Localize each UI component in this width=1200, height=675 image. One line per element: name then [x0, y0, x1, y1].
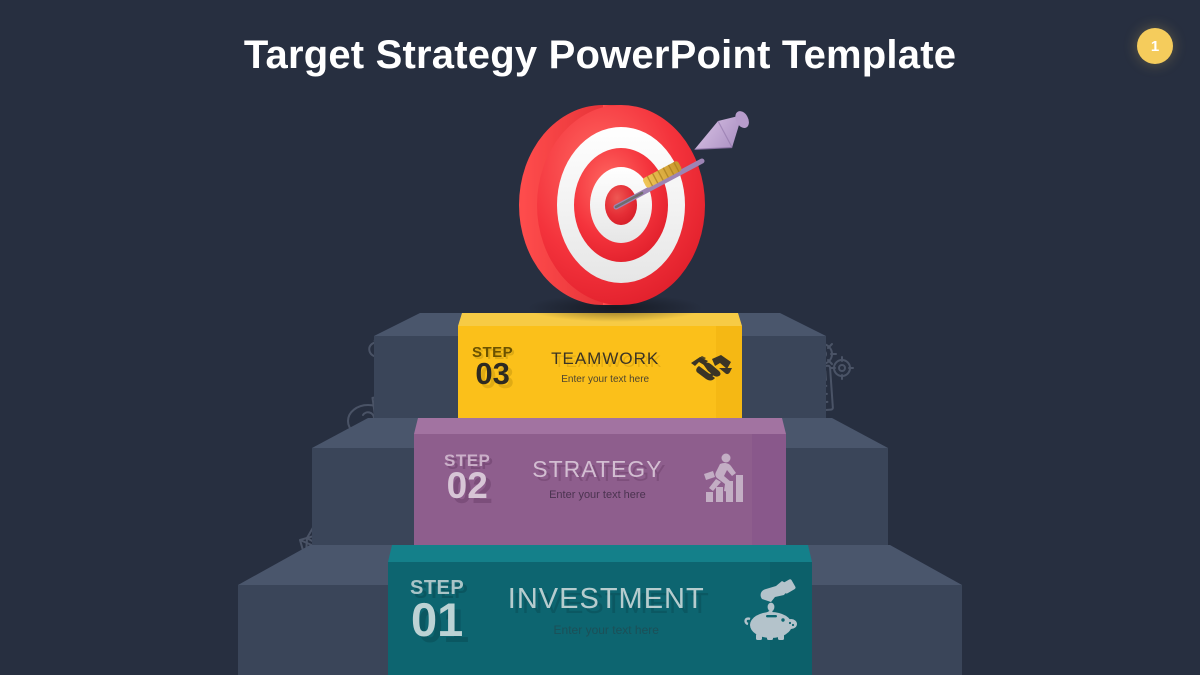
step-03-number: 03	[475, 360, 509, 389]
running-businessman-bar-chart-icon	[698, 452, 750, 504]
step-02-content[interactable]: STEP 02 STRATEGY Enter your text here	[444, 443, 754, 513]
step-01-number: 01	[411, 598, 463, 641]
step-01-text-block: INVESTMENT Enter your text here	[498, 583, 714, 637]
step-03-content[interactable]: STEP 03 TEAMWORK Enter your text here	[472, 336, 740, 398]
step-01-subtitle[interactable]: Enter your text here	[554, 623, 659, 637]
step-02-text-block: STRATEGY Enter your text here	[514, 456, 680, 501]
step-03-number-block: STEP 03	[472, 346, 513, 388]
slide-number-badge: 1	[1137, 28, 1173, 64]
step-02-subtitle[interactable]: Enter your text here	[549, 489, 646, 501]
step-01-title: INVESTMENT	[508, 583, 705, 616]
presentation-slide: 23	[0, 0, 1200, 675]
step-03-subtitle[interactable]: Enter your text here	[561, 374, 649, 385]
step-03-title: TEAMWORK	[551, 349, 659, 369]
dartboard-target-with-dart	[470, 95, 790, 325]
step-01-content[interactable]: STEP 01 INVESTMENT Enter your text here	[410, 568, 810, 652]
page-title: Target Strategy PowerPoint Template	[0, 33, 1200, 78]
step-02-number-block: STEP 02	[444, 453, 490, 503]
handshake-icon	[689, 350, 733, 384]
piggy-bank-coin-icon	[740, 579, 804, 641]
step-03-text-block: TEAMWORK Enter your text here	[535, 349, 675, 385]
step-02-number: 02	[447, 469, 488, 503]
step-02-title: STRATEGY	[532, 456, 662, 483]
step-01-number-block: STEP 01	[410, 579, 464, 641]
